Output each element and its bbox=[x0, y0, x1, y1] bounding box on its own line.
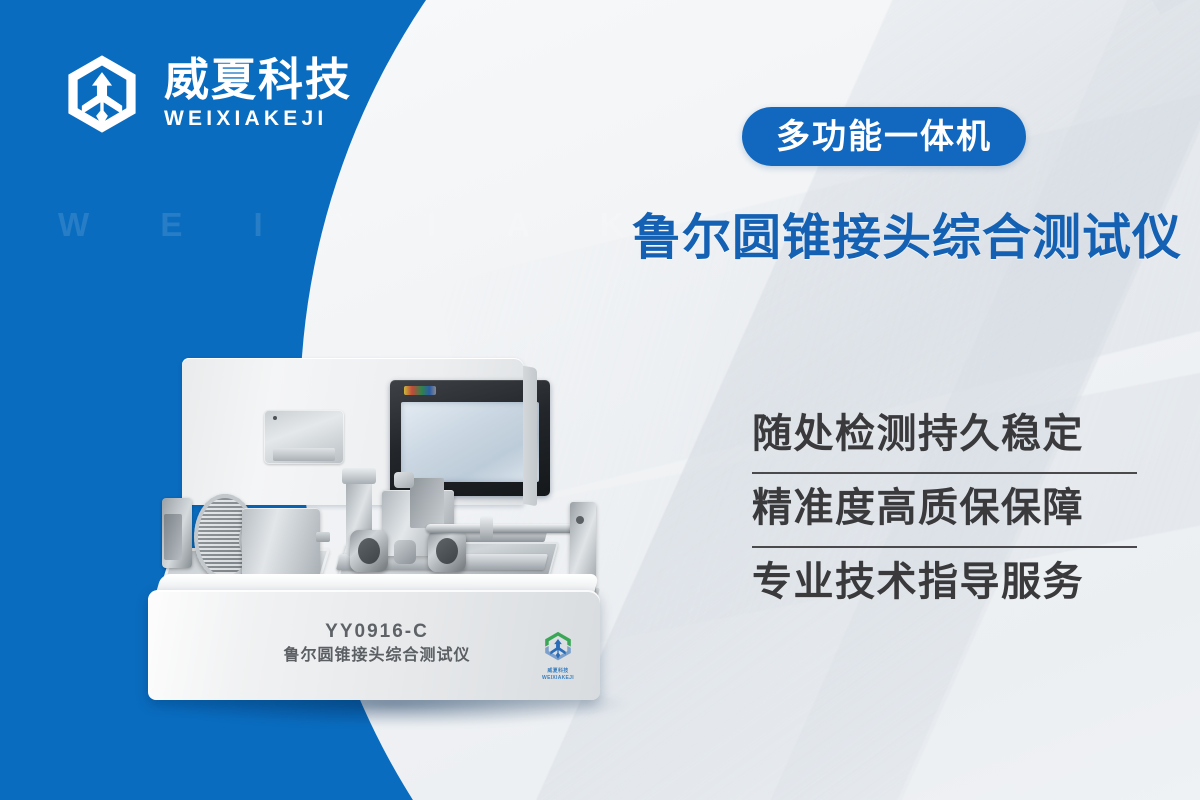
base-badge-text-en: WEIXIAKEJI bbox=[542, 675, 574, 681]
brand-name-cn: 威夏科技 bbox=[164, 56, 352, 103]
color-strip-logo-icon bbox=[404, 386, 436, 395]
feature-item: 精准度高质保保障 bbox=[752, 472, 1137, 546]
adjustment-knob-right[interactable] bbox=[428, 530, 466, 572]
hexagon-arrow-logo-icon bbox=[542, 630, 574, 667]
feature-item: 随处检测持久稳定 bbox=[752, 400, 1137, 472]
product-image: YY0916-C 鲁尔圆锥接头综合测试仪 威夏科技 WEIXIAKEJI bbox=[140, 352, 660, 772]
feature-item: 专业技术指导服务 bbox=[752, 546, 1137, 620]
base-badge-text-cn: 威夏科技 bbox=[547, 668, 568, 674]
carriage-top-cap bbox=[394, 472, 414, 488]
product-model-name: 鲁尔圆锥接头综合测试仪 bbox=[154, 644, 600, 668]
category-badge-label: 多功能一体机 bbox=[776, 120, 992, 154]
category-badge: 多功能一体机 bbox=[742, 107, 1026, 166]
bracket-hole bbox=[576, 516, 584, 524]
carriage-body-secondary bbox=[410, 478, 444, 528]
motor-housing-block bbox=[242, 508, 320, 578]
banner-stage: W E I X I A K E J I 威夏科技 WEIXIAKEJI 多功能一… bbox=[0, 0, 1200, 800]
horizontal-test-shaft bbox=[426, 524, 586, 533]
base-brand-badge: 威夏科技 WEIXIAKEJI bbox=[538, 630, 578, 676]
plate-screw-dot bbox=[273, 416, 277, 420]
feature-list: 随处检测持久稳定 精准度高质保保障 专业技术指导服务 bbox=[752, 400, 1137, 620]
shaft-collar bbox=[480, 516, 493, 540]
brand-name-en: WEIXIAKEJI bbox=[164, 105, 352, 132]
hexagon-arrow-logo-icon bbox=[60, 52, 144, 136]
adjustment-knob-center[interactable] bbox=[394, 540, 416, 564]
metal-bracket-plate bbox=[264, 410, 344, 464]
adjustment-knob-left[interactable] bbox=[350, 530, 388, 572]
carriage-post-cap bbox=[342, 468, 376, 484]
dial-mount-block bbox=[162, 498, 192, 568]
product-base: YY0916-C 鲁尔圆锥接头综合测试仪 威夏科技 WEIXIAKEJI bbox=[148, 590, 600, 700]
dial-mount-insert bbox=[164, 514, 182, 560]
product-model-code: YY0916-C bbox=[154, 620, 600, 644]
brand-logo: 威夏科技 WEIXIAKEJI bbox=[60, 52, 352, 136]
base-label-block: YY0916-C 鲁尔圆锥接头综合测试仪 bbox=[148, 620, 600, 668]
page-title: 鲁尔圆锥接头综合测试仪 bbox=[632, 198, 1182, 269]
